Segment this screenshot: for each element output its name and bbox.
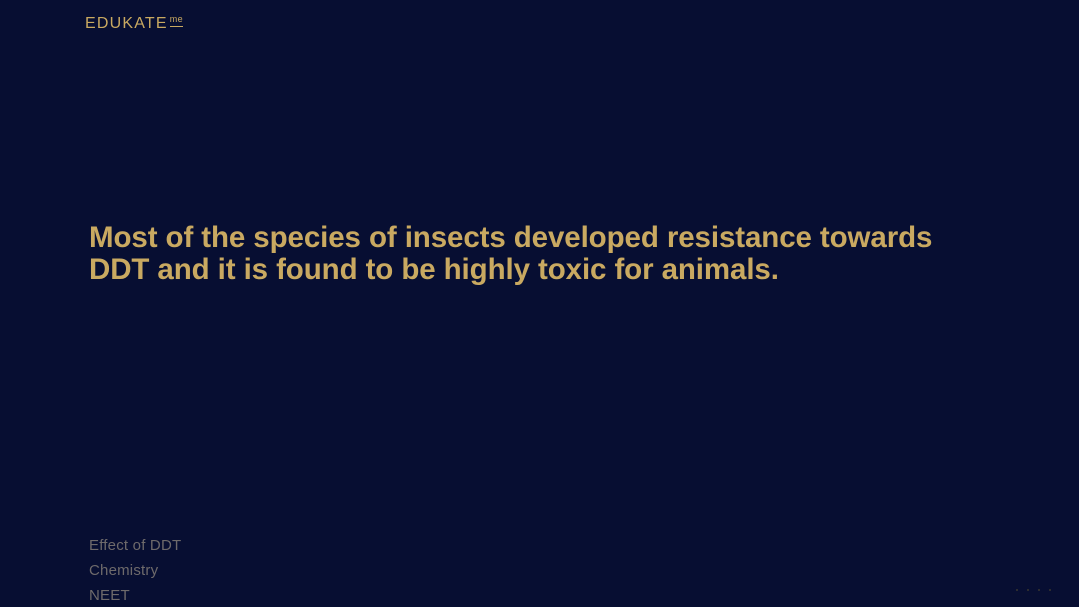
pager-dot-icon bbox=[1016, 589, 1018, 591]
pager-dot-icon bbox=[1049, 589, 1051, 591]
pager-dots bbox=[1016, 589, 1051, 591]
brand-superscript: me bbox=[170, 15, 183, 27]
slide-canvas: EDUKATE me Most of the species of insect… bbox=[0, 0, 1079, 607]
footer-subject: Chemistry bbox=[89, 558, 181, 583]
brand-logo[interactable]: EDUKATE me bbox=[85, 16, 183, 32]
footer-exam: NEET bbox=[89, 583, 181, 607]
pager-dot-icon bbox=[1027, 589, 1029, 591]
footer-meta: Effect of DDT Chemistry NEET bbox=[89, 533, 181, 607]
brand-name: EDUKATE bbox=[85, 16, 168, 32]
footer-topic: Effect of DDT bbox=[89, 533, 181, 558]
pager-dot-icon bbox=[1038, 589, 1040, 591]
slide-headline: Most of the species of insects developed… bbox=[89, 222, 989, 286]
